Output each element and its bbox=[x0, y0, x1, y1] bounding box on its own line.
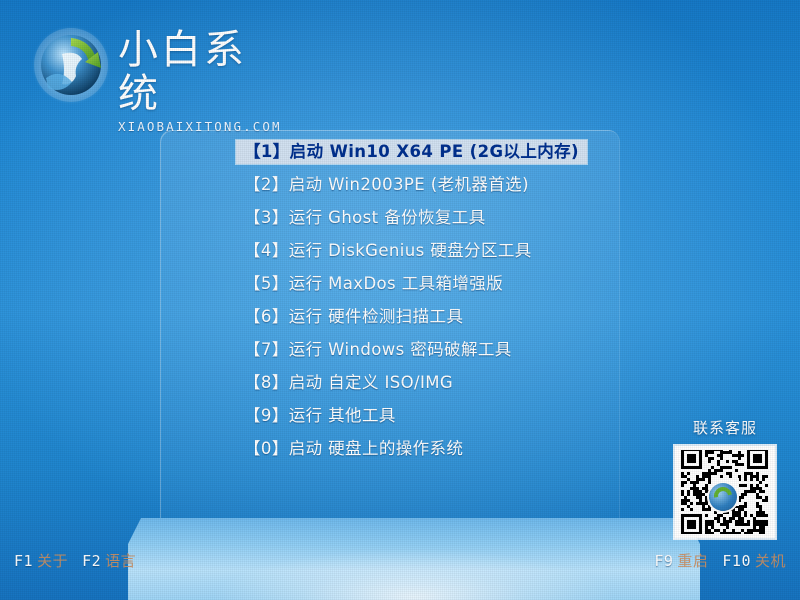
status-key-f10[interactable]: F10 bbox=[722, 552, 751, 570]
status-action-f9[interactable]: 重启 bbox=[673, 552, 722, 570]
boot-menu-item-8[interactable]: 【8】启动 自定义 ISO/IMG bbox=[236, 371, 556, 395]
status-bar-right[interactable]: F9重启F10关机 bbox=[654, 550, 786, 572]
qr-center-logo-icon bbox=[709, 483, 737, 511]
boot-menu-item-4[interactable]: 【4】运行 DiskGenius 硬盘分区工具 bbox=[236, 239, 556, 263]
brand-name-cn: 小白系统 bbox=[118, 28, 286, 116]
recycle-circle-logo-icon bbox=[32, 26, 110, 104]
boot-menu-item-5[interactable]: 【5】运行 MaxDos 工具箱增强版 bbox=[236, 272, 556, 296]
status-action-f1[interactable]: 关于 bbox=[33, 552, 82, 570]
contact-service-block: 联系客服 bbox=[665, 418, 785, 538]
status-bar-left[interactable]: F1关于F2语言 bbox=[14, 550, 136, 572]
status-action-f10[interactable]: 关机 bbox=[751, 552, 786, 570]
boot-menu-item-2[interactable]: 【2】启动 Win2003PE (老机器首选) bbox=[236, 173, 556, 197]
pedestal-decoration bbox=[128, 518, 700, 600]
boot-menu-item-7[interactable]: 【7】运行 Windows 密码破解工具 bbox=[236, 338, 556, 362]
status-key-f1[interactable]: F1 bbox=[14, 552, 33, 570]
boot-menu-item-6[interactable]: 【6】运行 硬件检测扫描工具 bbox=[236, 305, 556, 329]
brand-name-en: XIAOBAIXITONG.COM bbox=[118, 119, 286, 135]
boot-menu-item-3[interactable]: 【3】运行 Ghost 备份恢复工具 bbox=[236, 206, 556, 230]
status-key-f9[interactable]: F9 bbox=[654, 552, 673, 570]
boot-menu-item-1[interactable]: 【1】启动 Win10 X64 PE (2G以上内存) bbox=[236, 140, 587, 164]
contact-service-title: 联系客服 bbox=[665, 418, 785, 438]
boot-menu-item-9[interactable]: 【9】运行 其他工具 bbox=[236, 404, 556, 428]
boot-menu-item-0[interactable]: 【0】启动 硬盘上的操作系统 bbox=[236, 437, 556, 461]
brand-logo: 小白系统 XIAOBAIXITONG.COM bbox=[26, 22, 286, 110]
status-action-f2[interactable]: 语言 bbox=[101, 552, 136, 570]
boot-menu-screen: 小白系统 XIAOBAIXITONG.COM 【1】启动 Win10 X64 P… bbox=[0, 0, 800, 600]
boot-menu-list[interactable]: 【1】启动 Win10 X64 PE (2G以上内存)【2】启动 Win2003… bbox=[236, 140, 556, 470]
brand-text: 小白系统 XIAOBAIXITONG.COM bbox=[118, 28, 286, 135]
status-key-f2[interactable]: F2 bbox=[82, 552, 101, 570]
